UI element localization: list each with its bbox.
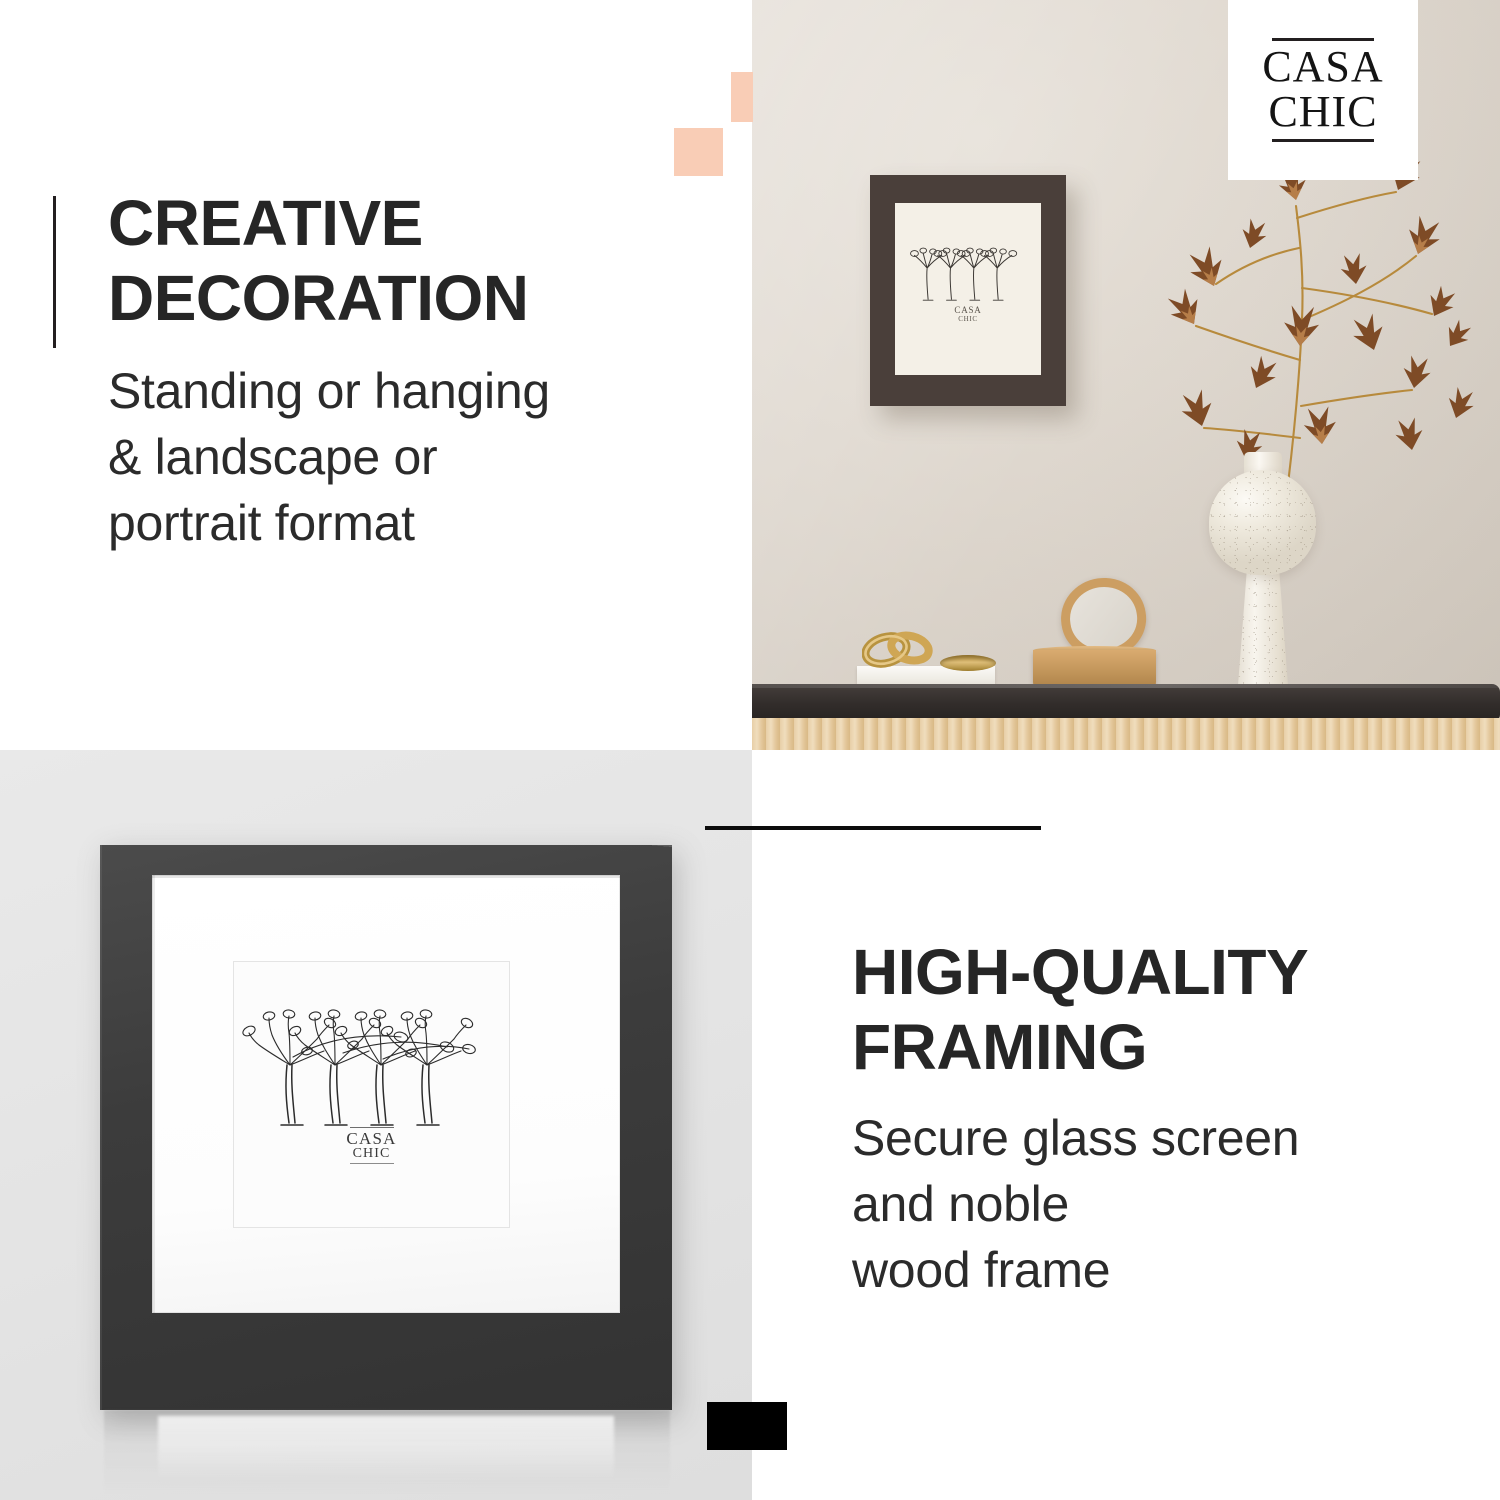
product-feature-collage: CREATIVE DECORATION Standing or hanging … (0, 0, 1500, 1500)
frame-reflection-mat (158, 1416, 614, 1480)
br-body-line1: Secure glass screen (852, 1105, 1472, 1171)
brass-knot-sculpture (862, 630, 936, 670)
logo-rule-bottom (1272, 139, 1374, 142)
logo-line1: CASA (1262, 45, 1383, 90)
accent-square-black (707, 1402, 787, 1450)
artwork-logo-line2: CHIC (233, 1147, 510, 1162)
ceramic-vase-bowl (1209, 470, 1316, 575)
dark-console-table-top (752, 684, 1500, 720)
creative-decoration-text-block: CREATIVE DECORATION Standing or hanging … (108, 186, 708, 556)
artwork-four-flowering-trees (233, 961, 510, 1228)
tl-heading-line1: CREATIVE (108, 186, 708, 261)
black-wood-picture-frame: CASA CHIC (100, 845, 672, 1410)
logo-rule-top (1272, 38, 1374, 41)
br-heading-line2: FRAMING (852, 1010, 1472, 1085)
wall-mounted-picture-frame: CASA CHIC (870, 175, 1066, 406)
tl-body-line1: Standing or hanging (108, 358, 708, 424)
frame-photo-window: CASA CHIC (233, 961, 510, 1228)
tl-body-line3: portrait format (108, 490, 708, 556)
accent-square-small (731, 72, 753, 122)
accent-square-large (674, 128, 723, 176)
logo-line2: CHIC (1268, 90, 1377, 135)
br-body-line3: wood frame (852, 1237, 1472, 1303)
wall-frame-artwork-logo: CASA CHIC (895, 306, 1041, 323)
tl-body-line2: & landscape or (108, 424, 708, 490)
heading-accent-rule (53, 196, 56, 348)
fluted-wood-cabinet (752, 718, 1500, 750)
casa-chic-logo: CASA CHIC (1228, 0, 1418, 180)
artwork-logo-rule-bottom (350, 1163, 394, 1164)
wall-frame-artwork-trees (895, 203, 1041, 375)
brass-dish (940, 655, 996, 671)
wall-frame-mat: CASA CHIC (895, 203, 1041, 375)
artwork-logo-rule-top (350, 1127, 394, 1128)
artwork-logo-line1: CASA (233, 1130, 510, 1147)
console-top-highlight (752, 684, 1500, 688)
br-heading-line1: HIGH-QUALITY (852, 935, 1472, 1010)
panel-product-frame: CASA CHIC (0, 750, 752, 1500)
framing-accent-rule (705, 826, 1041, 830)
panel-creative-decoration: CREATIVE DECORATION Standing or hanging … (0, 0, 752, 750)
tl-heading-line2: DECORATION (108, 261, 708, 336)
br-body-line2: and noble (852, 1171, 1472, 1237)
wall-frame-logo-line2: CHIC (895, 316, 1041, 323)
artwork-logo: CASA CHIC (233, 1127, 510, 1165)
high-quality-framing-text-block: HIGH-QUALITY FRAMING Secure glass screen… (852, 935, 1472, 1303)
